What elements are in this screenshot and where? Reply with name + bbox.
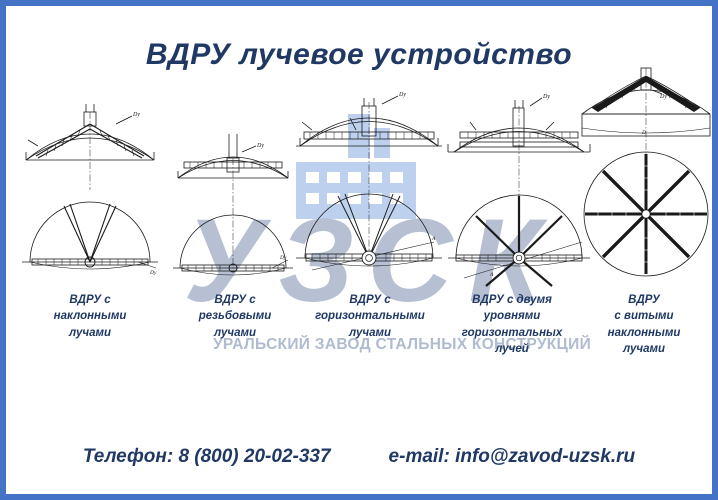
caption-horizontal-rays: ВДРУ сгоризонтальнымилучами bbox=[296, 292, 444, 341]
figure-horizontal-rays: Dу bbox=[294, 80, 444, 294]
svg-text:Dу: Dу bbox=[542, 94, 550, 100]
svg-text:Dу: Dу bbox=[149, 270, 157, 276]
svg-text:Dу: Dу bbox=[132, 112, 140, 118]
footer-email[interactable]: e-mail: info@zavod-uzsk.ru bbox=[389, 446, 636, 468]
caption-two-level-rays: ВДРУ с двумяуровнямигоризонтальныхлучей bbox=[442, 292, 582, 357]
slide-page: УЗСК УРАЛЬСКИЙ ЗАВОД СТАЛЬНЫХ КОНСТРУКЦИ… bbox=[0, 0, 718, 500]
page-title: ВДРУ лучевое устройство bbox=[6, 38, 712, 72]
svg-text:Dу: Dу bbox=[659, 94, 667, 100]
svg-text:А: А bbox=[431, 236, 436, 242]
svg-text:А: А bbox=[489, 272, 494, 278]
figure-twisted-rays: Dу D bbox=[576, 62, 716, 278]
figure-inclined-rays: Dу bbox=[20, 94, 160, 294]
caption-inclined-rays: ВДРУ снаклоннымилучами bbox=[26, 292, 154, 341]
footer-phone[interactable]: Телефон: 8 (800) 20-02-337 bbox=[83, 446, 331, 468]
caption-twisted-rays: ВДРУс витыминаклоннымилучами bbox=[582, 292, 706, 357]
caption-threaded-rays: ВДРУ срезьбовымилучами bbox=[174, 292, 296, 341]
figure-two-level-rays: Dу bbox=[446, 82, 592, 294]
svg-text:Dу: Dу bbox=[256, 143, 264, 149]
figure-threaded-rays: Dу bbox=[172, 116, 294, 294]
footer-contacts: Телефон: 8 (800) 20-02-337 e-mail: info@… bbox=[6, 446, 712, 468]
svg-text:Dу: Dу bbox=[279, 255, 287, 261]
svg-text:Dу: Dу bbox=[398, 92, 406, 98]
svg-text:D: D bbox=[641, 130, 646, 136]
